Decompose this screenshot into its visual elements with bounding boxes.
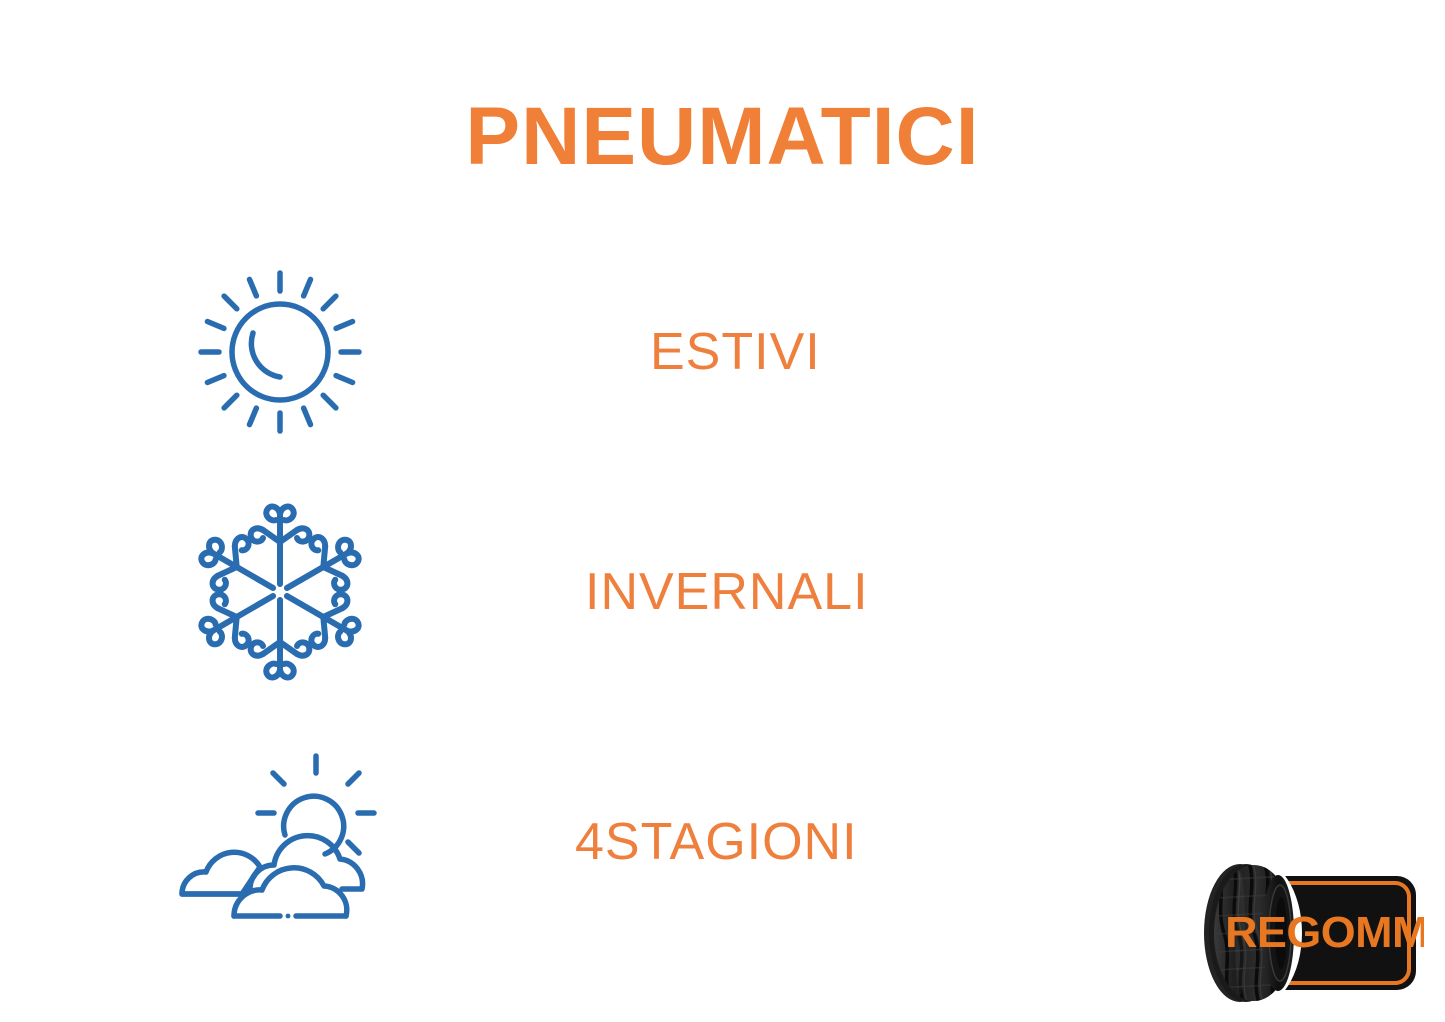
brand-logo[interactable]: REGOMMA — [1192, 858, 1424, 1008]
season-row-invernali: INVERNALI — [150, 492, 1150, 692]
season-row-4stagioni: 4STAGIONI — [150, 742, 1150, 942]
snowflake-icon — [150, 492, 410, 692]
page-title: PNEUMATICI — [0, 96, 1445, 178]
season-label-estivi: ESTIVI — [650, 326, 821, 378]
brand-wordmark: REGOMMA — [1225, 908, 1424, 957]
season-row-estivi: ESTIVI — [150, 252, 1150, 452]
season-label-4stagioni: 4STAGIONI — [575, 816, 858, 868]
poster-canvas: PNEUMATICI — [0, 0, 1445, 1022]
sun-behind-clouds-icon — [150, 742, 410, 942]
season-label-invernali: INVERNALI — [585, 566, 869, 618]
sun-icon — [150, 252, 410, 452]
